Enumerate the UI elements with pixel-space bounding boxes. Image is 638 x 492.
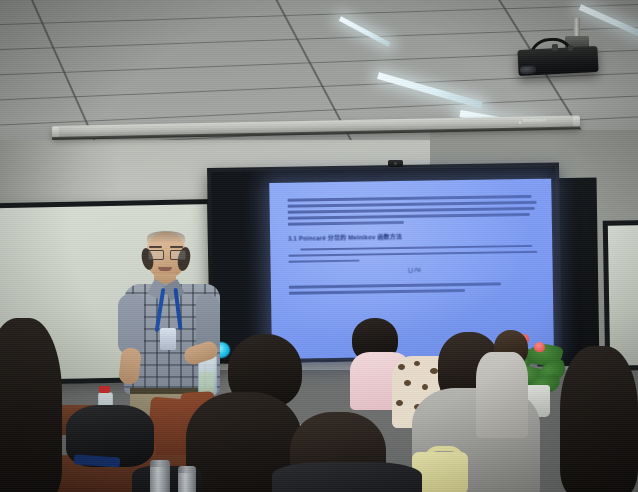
presenter-mouth <box>158 267 172 271</box>
attendee-head <box>560 346 638 492</box>
projector-knob <box>552 44 558 51</box>
lecture-hall-photo: SmartScreen 3.1 Poincaré 分岔的 Melnikov 函数… <box>0 0 638 492</box>
projector-mount-rod <box>573 18 580 38</box>
ceiling-light-4 <box>579 4 638 38</box>
screen-housing-dot-icon <box>518 121 521 124</box>
projector-lens-icon <box>520 66 536 75</box>
slide-section-heading: 3.1 Poincaré 分岔的 Melnikov 函数方法 <box>288 229 540 242</box>
screen-housing-brand-label: SmartScreen <box>523 118 546 122</box>
presenter-arm-left <box>118 294 144 354</box>
thermos-cup-lid <box>150 460 170 467</box>
webcam-lens-icon <box>394 162 397 165</box>
ceiling-light-1 <box>339 16 391 47</box>
presenter-brow-left <box>149 246 162 248</box>
slide-content: 3.1 Poincaré 分岔的 Melnikov 函数方法 ⋃ Λε <box>287 195 541 298</box>
presenter-brow-right <box>170 246 183 248</box>
thermos-cup <box>150 464 170 492</box>
thermos-cup <box>178 470 196 492</box>
water-bottle-liquid <box>199 372 214 393</box>
ceiling-light-2 <box>377 72 483 108</box>
presenter-hair <box>147 231 185 244</box>
projector-knob <box>568 45 573 51</box>
attendee-body <box>272 462 422 492</box>
attendee-head <box>0 318 62 492</box>
bottle-cap <box>99 386 110 393</box>
slide-formula: ⋃ Λε <box>289 265 541 276</box>
attendee-body <box>476 352 528 438</box>
screen-housing-end-right <box>573 116 580 126</box>
screen-housing-end-left <box>52 127 59 137</box>
name-badge <box>160 328 176 350</box>
glasses-icon <box>148 250 184 258</box>
thermos-cup-lid <box>178 466 196 473</box>
